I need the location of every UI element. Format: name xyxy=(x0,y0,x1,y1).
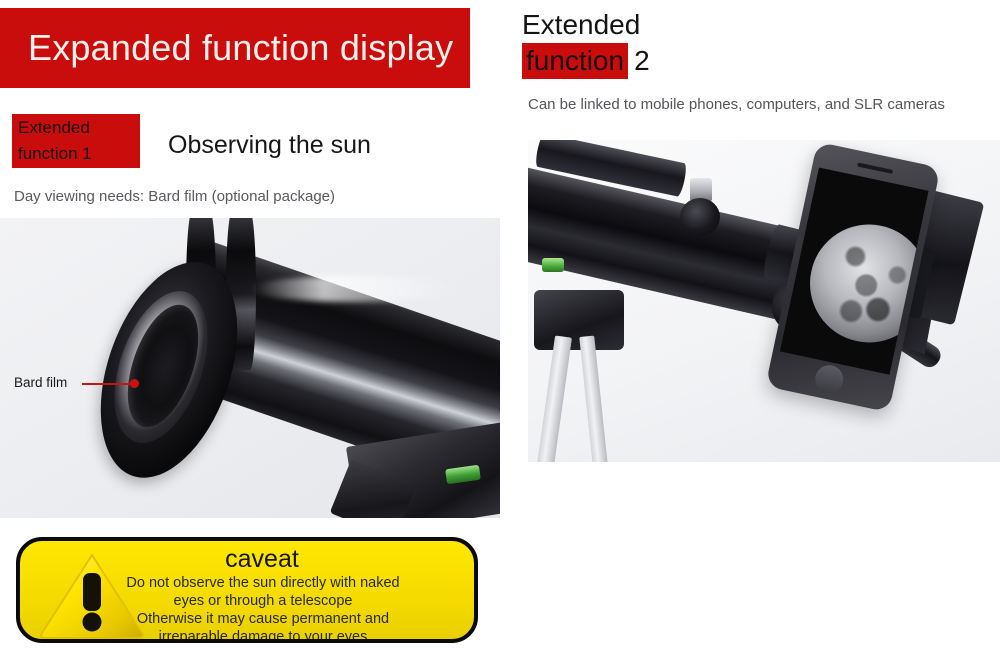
function-number: 2 xyxy=(634,45,650,76)
caveat-line-3: Otherwise it may cause permanent and xyxy=(60,610,466,628)
badge-line-1: Extended xyxy=(18,115,136,141)
caveat-text-block: Do not observe the sun directly with nak… xyxy=(60,574,466,643)
finder-adjust-knob xyxy=(680,198,720,236)
phone-home-button xyxy=(813,363,846,396)
smartphone-shape xyxy=(765,142,940,413)
banner-title: Expanded function display xyxy=(28,27,453,69)
caveat-line-2: eyes or through a telescope xyxy=(60,592,466,610)
callout-leader-line xyxy=(82,383,134,385)
bard-film-callout-label: Bard film xyxy=(14,375,67,390)
caveat-line-4: irreparable damage to your eyes xyxy=(60,628,466,643)
left-subtitle-note: Day viewing needs: Bard film (optional p… xyxy=(14,188,335,205)
caveat-warning-box: caveat Do not observe the sun directly w… xyxy=(16,537,478,643)
left-panel: Expanded function display Extended funct… xyxy=(0,0,500,654)
callout-point-marker xyxy=(130,379,139,388)
telescope-highlight xyxy=(250,276,460,302)
caveat-title: caveat xyxy=(20,545,474,574)
extended-function-2-title-line-2: function2 xyxy=(522,44,650,78)
main-banner: Expanded function display xyxy=(0,8,470,88)
caveat-line-1: Do not observe the sun directly with nak… xyxy=(60,574,466,592)
infographic-page: Expanded function display Extended funct… xyxy=(0,0,1000,654)
right-subtitle-note: Can be linked to mobile phones, computer… xyxy=(528,96,945,113)
extended-function-2-title-line-1: Extended xyxy=(522,8,640,42)
badge-line-2: function 1 xyxy=(18,141,136,167)
tripod-leg-2 xyxy=(579,336,608,462)
telescope-phone-adapter-photo xyxy=(528,140,1000,462)
function-highlight: function xyxy=(522,43,628,79)
right-bubble-level-icon xyxy=(542,258,564,272)
telescope-objective-photo: Bard film xyxy=(0,218,500,518)
phone-earpiece xyxy=(857,163,893,174)
tripod-leg-1 xyxy=(537,335,572,462)
extended-function-1-badge: Extended function 1 xyxy=(12,114,140,168)
right-panel: Extended function2 Can be linked to mobi… xyxy=(500,0,1000,654)
section-title-observing-the-sun: Observing the sun xyxy=(168,131,371,160)
